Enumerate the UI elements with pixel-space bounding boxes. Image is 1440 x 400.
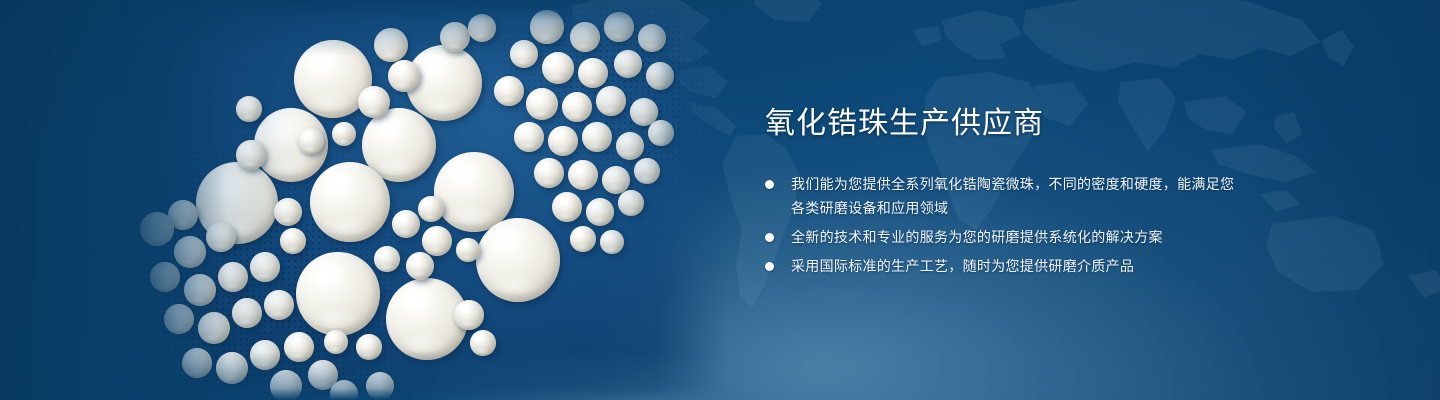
list-item: 采用国际标准的生产工艺，随时为您提供研磨介质产品: [765, 254, 1235, 278]
list-item: 我们能为您提供全系列氧化锆陶瓷微珠，不同的密度和硬度，能满足您各类研磨设备和应用…: [765, 172, 1235, 220]
list-item-label: 采用国际标准的生产工艺，随时为您提供研磨介质产品: [791, 254, 1235, 278]
bullet-dot-icon: [765, 180, 774, 189]
zirconia-beads-photo: [118, 0, 728, 400]
list-item-label: 全新的技术和专业的服务为您的研磨提供系统化的解决方案: [791, 225, 1235, 249]
list-item-label: 我们能为您提供全系列氧化锆陶瓷微珠，不同的密度和硬度，能满足您各类研磨设备和应用…: [791, 172, 1235, 220]
hero-banner: 氧化锆珠生产供应商 我们能为您提供全系列氧化锆陶瓷微珠，不同的密度和硬度，能满足…: [0, 0, 1440, 400]
feature-list: 我们能为您提供全系列氧化锆陶瓷微珠，不同的密度和硬度，能满足您各类研磨设备和应用…: [765, 172, 1235, 278]
bullet-dot-icon: [765, 233, 774, 242]
page-title: 氧化锆珠生产供应商: [765, 104, 1235, 144]
bead-cluster: [118, 0, 728, 400]
list-item: 全新的技术和专业的服务为您的研磨提供系统化的解决方案: [765, 225, 1235, 249]
bullet-dot-icon: [765, 262, 774, 271]
hero-content: 氧化锆珠生产供应商 我们能为您提供全系列氧化锆陶瓷微珠，不同的密度和硬度，能满足…: [765, 104, 1235, 278]
